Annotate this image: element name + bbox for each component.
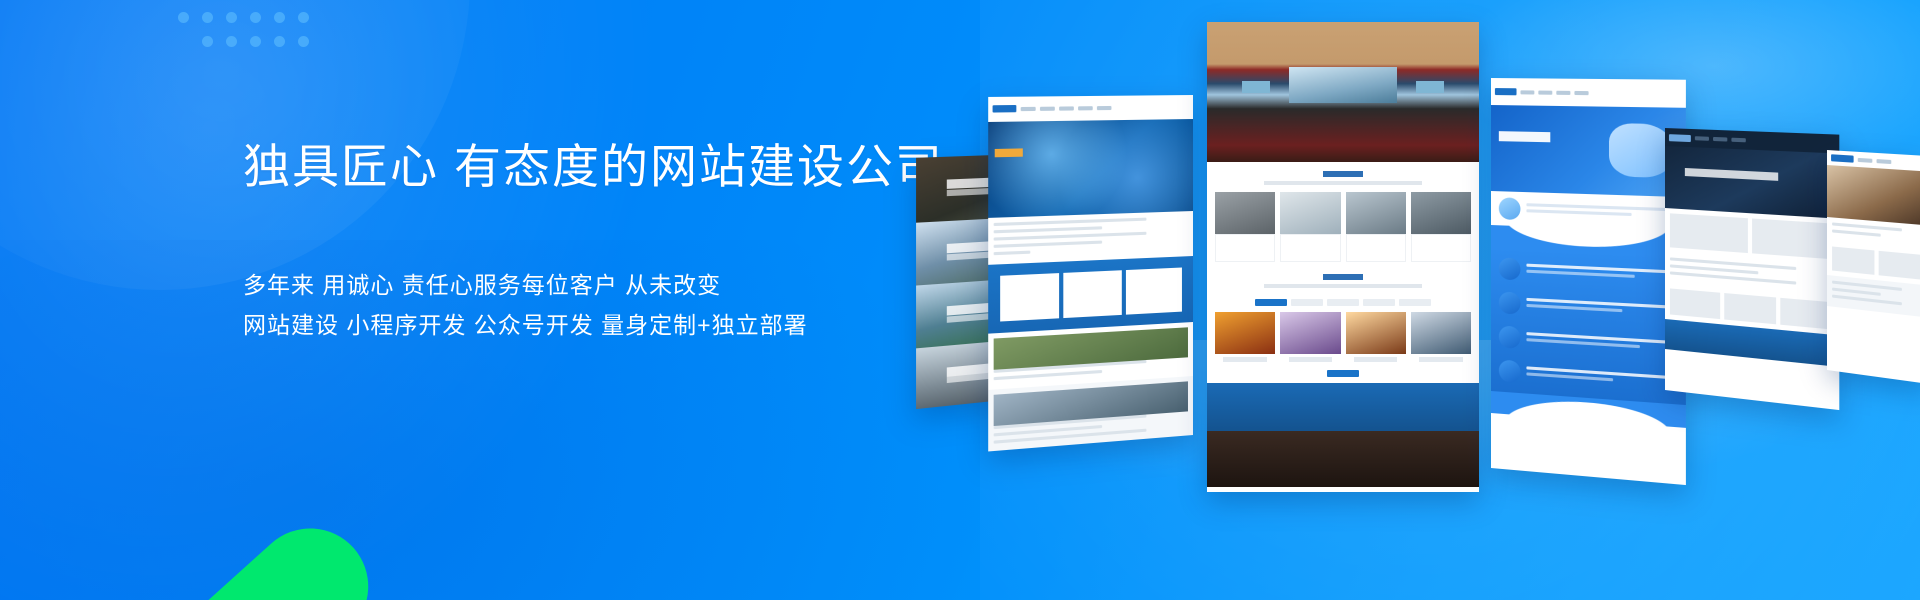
subline-1: 多年来 用诚心 责任心服务每位客户 从未改变 [243, 265, 1003, 305]
mockup-auditorium-site [1207, 22, 1479, 492]
subline-2: 网站建设 小程序开发 公众号开发 量身定制+独立部署 [243, 305, 1003, 345]
dot-grid-pattern [175, 9, 319, 57]
mockup-blue-biotech-site [988, 95, 1193, 451]
green-pill-shape [114, 505, 392, 600]
hero-copy: 独具匠心 有态度的网站建设公司 多年来 用诚心 责任心服务每位客户 从未改变 网… [243, 140, 1003, 345]
mockup-right-edge-site [1827, 150, 1920, 384]
hero-subtext: 多年来 用诚心 责任心服务每位客户 从未改变 网站建设 小程序开发 公众号开发 … [243, 265, 1003, 345]
hero-banner: 独具匠心 有态度的网站建设公司 多年来 用诚心 责任心服务每位客户 从未改变 网… [0, 0, 1920, 600]
website-mockup-collage [905, 0, 1920, 600]
mockup-dark-corporate-site [1665, 128, 1839, 410]
page-title: 独具匠心 有态度的网站建设公司 [243, 140, 1003, 195]
mockup-illustrated-site [1491, 78, 1686, 485]
